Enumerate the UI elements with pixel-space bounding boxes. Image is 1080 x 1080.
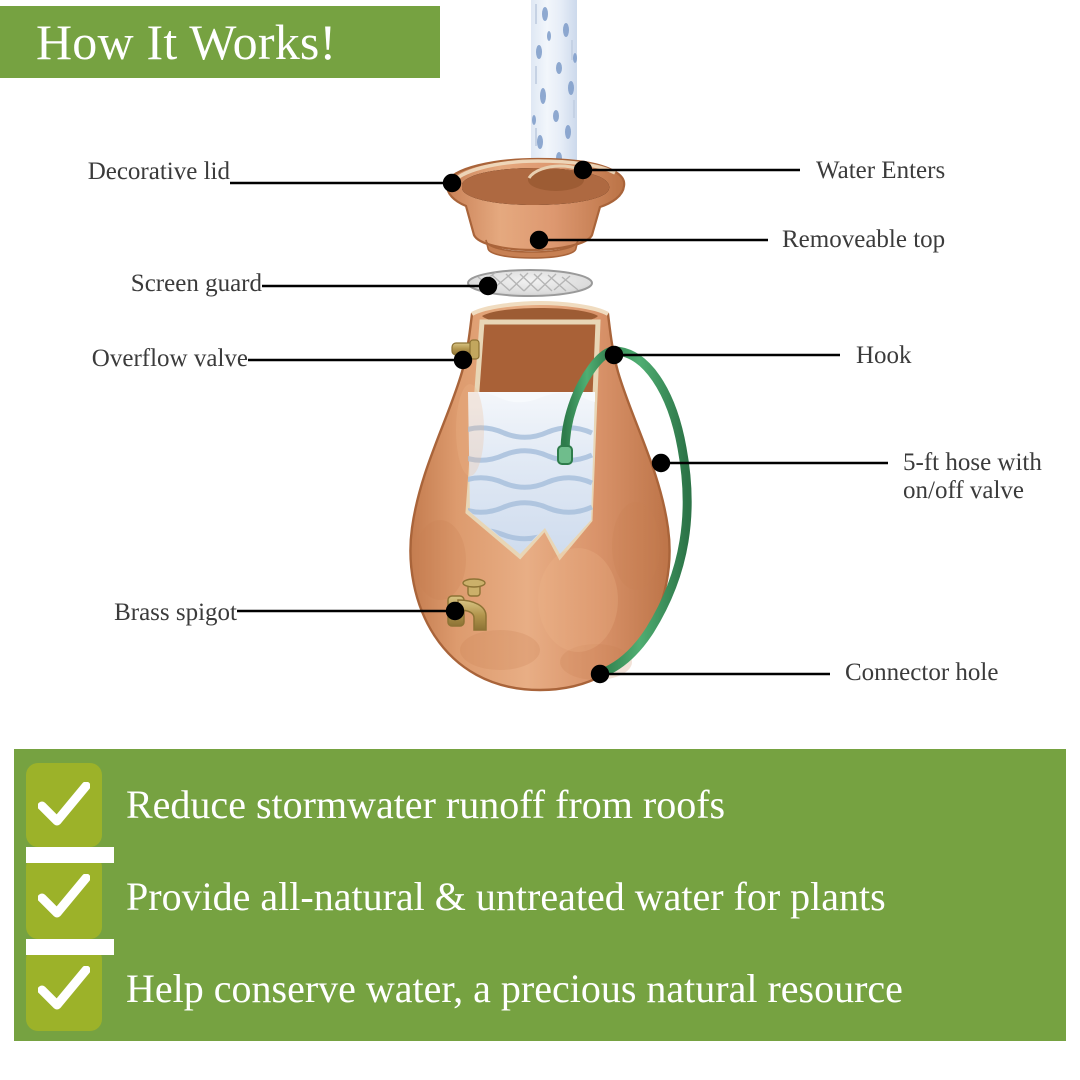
callout-removeable-top: Removeable top [782, 226, 945, 254]
benefit-item: Help conserve water, a precious natural … [14, 947, 1066, 1031]
callout-hose: 5-ft hose with on/off valve [903, 449, 1042, 505]
check-icon [26, 947, 102, 1031]
hose-nozzle-graphic [558, 446, 572, 464]
check-separator [26, 847, 114, 863]
benefit-label: Help conserve water, a precious natural … [126, 969, 903, 1009]
callout-connector-hole: Connector hole [845, 659, 998, 687]
page-title: How It Works! [0, 17, 336, 67]
benefit-item: Reduce stormwater runoff from roofs [14, 763, 1066, 847]
callout-hook: Hook [856, 342, 912, 370]
check-icon [26, 855, 102, 939]
check-separator [26, 939, 114, 955]
title-banner: How It Works! [0, 6, 440, 78]
infographic-page: How It Works! Decorative lid Screen guar… [0, 0, 1080, 1080]
callout-decorative-lid: Decorative lid [68, 158, 230, 186]
callout-overflow-valve: Overflow valve [58, 345, 248, 373]
check-icon [26, 763, 102, 847]
water-stream-graphic [531, 0, 577, 172]
callout-screen-guard: Screen guard [86, 270, 262, 298]
callout-water-enters: Water Enters [816, 157, 945, 185]
benefit-label: Provide all-natural & untreated water fo… [126, 877, 886, 917]
benefit-item: Provide all-natural & untreated water fo… [14, 855, 1066, 939]
benefits-panel: Reduce stormwater runoff from roofs Prov… [14, 749, 1066, 1041]
callout-brass-spigot: Brass spigot [77, 599, 237, 627]
benefit-label: Reduce stormwater runoff from roofs [126, 785, 725, 825]
